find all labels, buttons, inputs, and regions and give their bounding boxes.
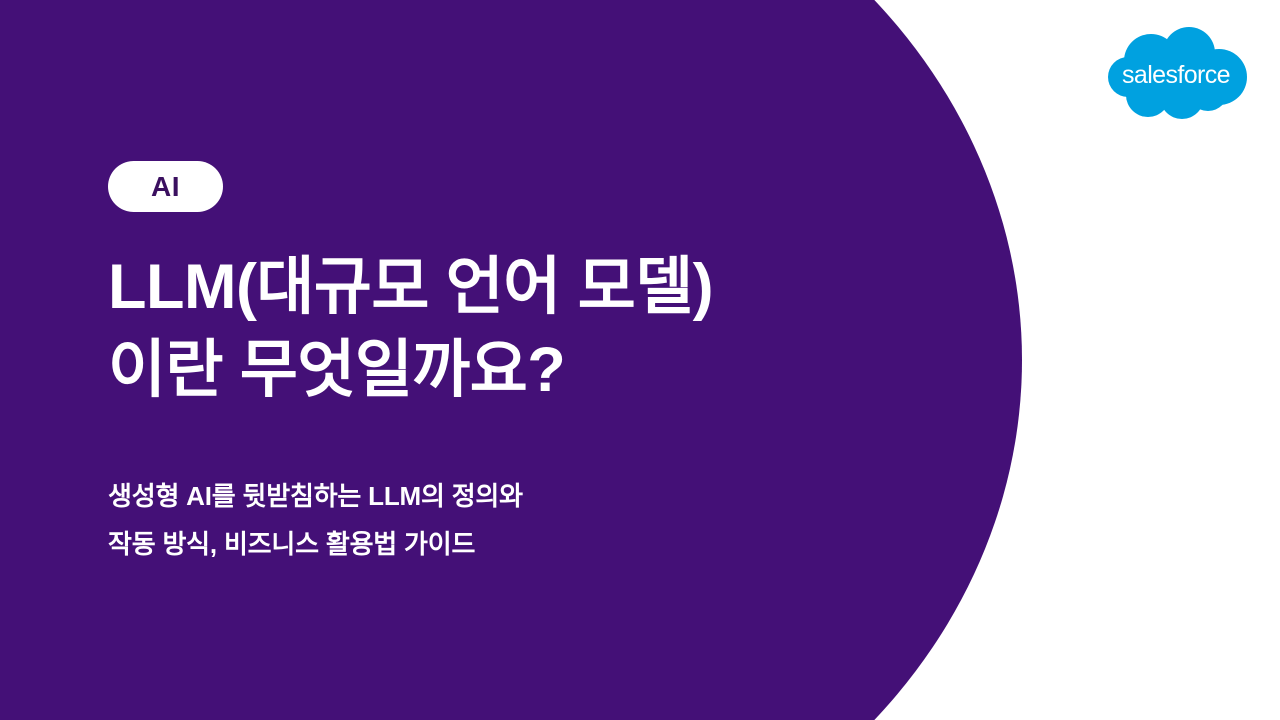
page-title-line-2: 이란 무엇일까요? bbox=[108, 329, 898, 412]
svg-text:salesforce: salesforce bbox=[1122, 61, 1230, 89]
salesforce-cloud-icon: salesforce bbox=[1104, 25, 1248, 123]
hero-content: AI LLM(대규모 언어 모델) 이란 무엇일까요? 생성형 AI를 뒷받침하… bbox=[108, 0, 888, 720]
page-subtitle-line-2: 작동 방식, 비즈니스 활용법 가이드 bbox=[108, 520, 808, 568]
page-subtitle: 생성형 AI를 뒷받침하는 LLM의 정의와 작동 방식, 비즈니스 활용법 가… bbox=[108, 472, 808, 568]
category-badge-ai: AI bbox=[108, 161, 223, 212]
page-title-line-1: LLM(대규모 언어 모델) bbox=[108, 246, 898, 329]
page-subtitle-line-1: 생성형 AI를 뒷받침하는 LLM의 정의와 bbox=[108, 472, 808, 520]
hero-slide: salesforce AI LLM(대규모 언어 모델) 이란 무엇일까요? 생… bbox=[0, 0, 1280, 720]
category-badge-label: AI bbox=[151, 173, 180, 201]
page-title: LLM(대규모 언어 모델) 이란 무엇일까요? bbox=[108, 246, 898, 412]
